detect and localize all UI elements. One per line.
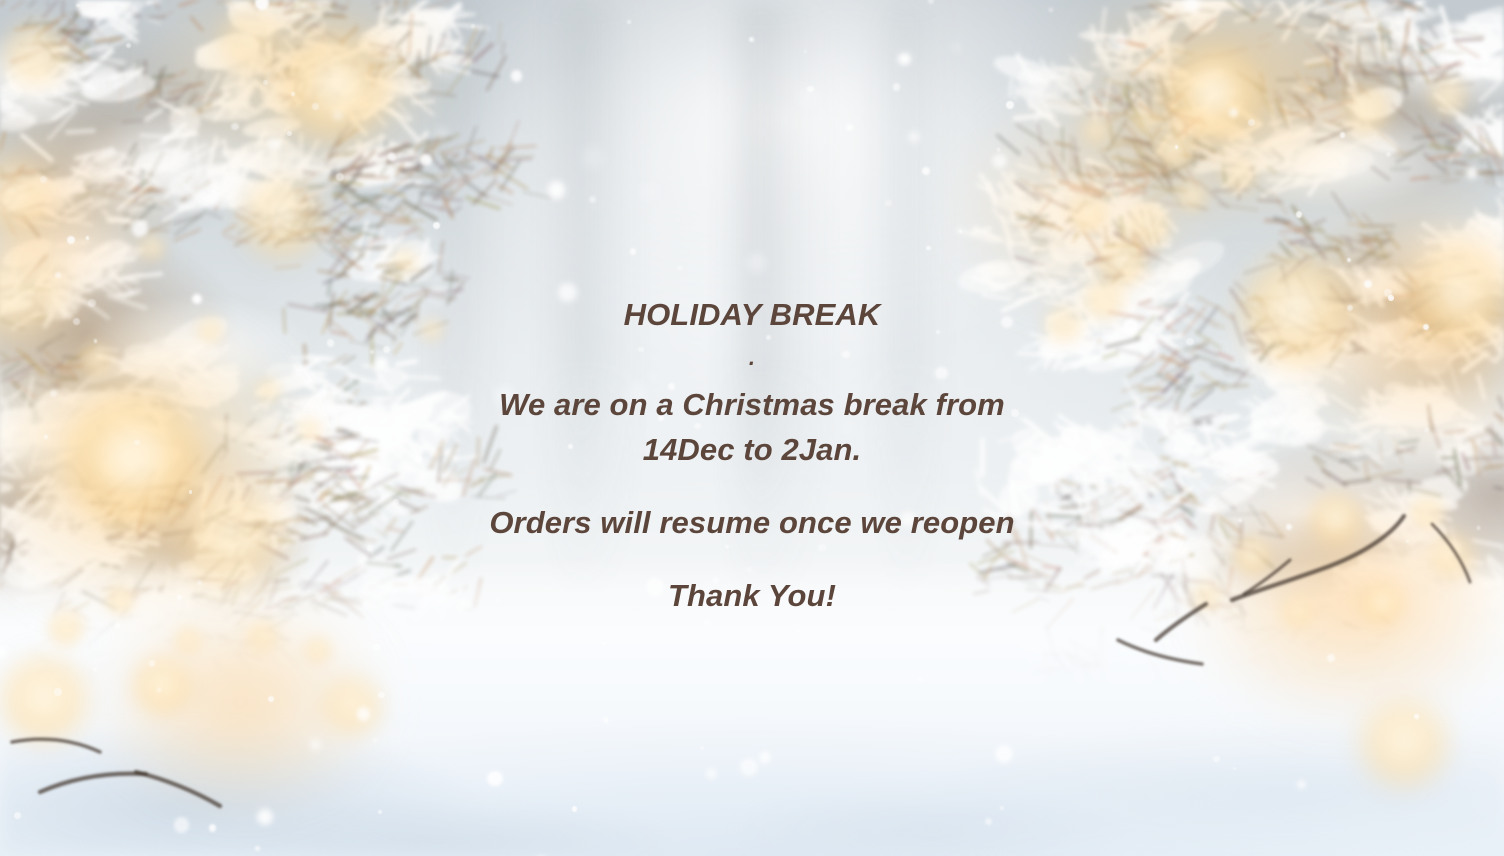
snowflake [336,173,344,181]
snowflake [67,236,75,244]
snowflake [40,176,47,183]
snowflake [1414,714,1419,719]
snowflake [797,630,801,634]
snowflake [602,641,606,645]
snowflake [1000,806,1004,810]
snowflake [997,148,1000,151]
bokeh-light [4,660,84,740]
snowflake [14,812,21,819]
snowflake [589,196,596,203]
holiday-message: HOLIDAY BREAK . We are on a Christmas br… [0,296,1504,618]
message-title: HOLIDAY BREAK [0,296,1504,334]
snowflake [420,154,432,166]
snowflake [898,53,910,65]
snowflake [433,222,440,229]
bokeh-light [1072,198,1104,230]
snowflake [268,696,274,702]
snowflake [572,806,578,812]
snowflake [548,181,565,198]
message-body-3: Orders will resume once we reopen [0,500,1504,545]
snowflake [312,103,319,110]
snowflake [0,647,6,657]
bokeh-light [745,252,768,275]
snowflake [231,123,239,131]
snowflake [807,86,814,93]
snowflake [255,0,269,10]
bokeh-light [1178,182,1206,210]
snowflake [740,758,758,776]
snowflake [1297,780,1306,789]
snowflake [257,809,273,825]
snowflake [630,248,637,255]
bokeh-light [796,85,822,111]
bokeh-light [136,660,188,712]
snowflake [1296,211,1303,218]
bokeh-light [1134,108,1158,132]
bokeh-light [436,59,458,81]
snow-field-shadows [0,640,1504,856]
snowflake [93,668,96,671]
snowflake [1248,119,1255,126]
snowflake [1327,654,1335,662]
snowflake [149,660,155,666]
snowflake [378,692,384,698]
bokeh-light [580,145,606,171]
bokeh-light [637,181,660,204]
snowflake [30,625,35,630]
snowflake [471,24,475,28]
snowflake [55,272,61,278]
snowflake [928,0,934,4]
snowflake [115,623,121,629]
snowflake [804,50,807,53]
snowflake [373,644,380,651]
snowflake [926,246,931,251]
snowflake [378,810,382,814]
snowflake [706,768,717,779]
snowflake [255,846,260,851]
bokeh-light [434,126,450,142]
snowflake [749,37,754,42]
message-spacer [0,472,1504,500]
message-separator: . [0,334,1504,382]
snowflake [310,739,321,750]
snowflake [603,717,609,723]
bokeh-light [286,38,386,138]
snowflake [1386,152,1391,157]
bokeh-light [1128,206,1168,246]
bokeh-light [326,680,378,732]
snowflake [908,131,920,143]
message-spacer-2 [0,545,1504,573]
bokeh-light [1344,88,1388,132]
snowflake [846,124,853,131]
snowflake [157,688,161,692]
snowflake [209,824,217,832]
snowflake [76,4,79,7]
snowflake [1213,756,1219,762]
snowflake [918,677,923,682]
snowflake [678,266,681,269]
snowflake [759,751,771,763]
snowflake [985,818,992,825]
bokeh-light [248,622,276,650]
snowflake [1364,280,1372,288]
snowflake [1183,0,1199,12]
snowflake [893,83,900,90]
snowflake [373,738,377,742]
bokeh-light [1157,133,1191,167]
bokeh-light [0,162,46,230]
snowflake [1229,108,1238,117]
snowflake [263,80,268,85]
bokeh-light [306,638,330,662]
snowflake [487,771,503,787]
message-closing: Thank You! [0,573,1504,618]
snowflake [174,817,189,832]
snowflake [700,746,704,750]
snowflake [54,688,62,696]
snowflake [126,43,131,48]
snowflake [1049,8,1054,13]
snowflake [1466,167,1478,179]
snowflake [1006,101,1014,109]
snowflake [885,200,891,206]
message-body-2: 14Dec to 2Jan. [0,427,1504,472]
bokeh-light [951,42,962,53]
snowflake [268,138,281,151]
snowflake [132,221,147,236]
bokeh-light [6,24,66,84]
snowflake [995,745,1013,763]
snowflake [992,154,1006,168]
bokeh-light [391,249,417,275]
bokeh-light [1223,161,1253,191]
snowflake [357,707,371,721]
snowflake [922,167,930,175]
bokeh-light [1100,240,1144,284]
bokeh-light [224,14,276,66]
snowflake [1347,258,1351,262]
snowflake [1233,767,1236,770]
bokeh-light [1364,704,1444,784]
snowflake [959,230,963,234]
snowflake [1340,132,1346,138]
snowflake [704,620,710,626]
bokeh-light [244,180,320,256]
snowflake [511,70,522,81]
snowflake [388,153,396,161]
bokeh-light [511,132,522,143]
snowflake [333,111,342,120]
bokeh-light [1430,78,1466,114]
bokeh-light [176,628,200,652]
snowflake [86,236,90,240]
snowflake [627,20,631,24]
snowflake [291,92,295,96]
holiday-break-banner: HOLIDAY BREAK . We are on a Christmas br… [0,0,1504,856]
snowflake [1175,145,1179,149]
snowflake [287,131,292,136]
snowflake [1110,33,1127,50]
bokeh-light [1169,52,1257,140]
message-body-1: We are on a Christmas break from [0,382,1504,427]
bokeh-light [1083,117,1109,143]
bokeh-light [140,236,164,260]
